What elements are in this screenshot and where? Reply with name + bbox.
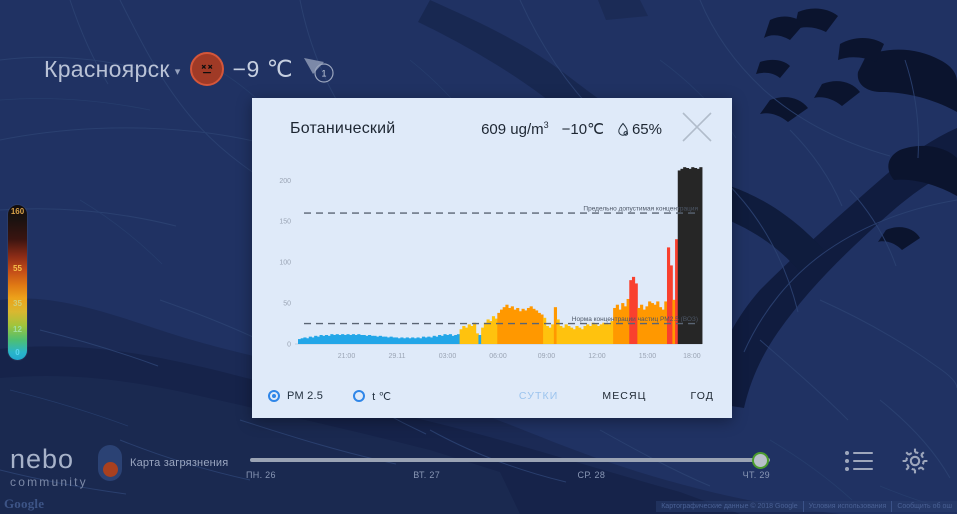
radio-indicator-temp xyxy=(353,390,365,402)
list-icon[interactable] xyxy=(844,449,874,478)
city-selector[interactable]: Красноярск ▾ xyxy=(44,56,181,83)
pollution-color-scale: 160 55 35 12 0 xyxy=(8,205,27,360)
city-name-label: Красноярск xyxy=(44,56,170,83)
metric-option-pm25[interactable]: PM 2.5 xyxy=(268,390,323,402)
layer-toggle-dot xyxy=(103,462,118,477)
svg-text:Норма концентрации частиц PM2.: Норма концентрации частиц PM2.5 (ВОЗ) xyxy=(572,316,698,323)
svg-text:1: 1 xyxy=(322,69,327,79)
pollution-chart[interactable]: 050100150200Предельно допустимая концент… xyxy=(262,160,708,368)
legend-label-35: 35 xyxy=(8,299,27,308)
timeline-label-0: ПН. 26 xyxy=(246,470,276,480)
svg-text:29.11: 29.11 xyxy=(388,353,405,360)
svg-text:21:00: 21:00 xyxy=(338,353,356,360)
svg-text:03:00: 03:00 xyxy=(439,353,457,360)
legend-label-0: 0 xyxy=(8,348,27,357)
station-temperature: −10℃ xyxy=(562,120,604,138)
timeline-slider[interactable]: ПН. 26 ВТ. 27 СР. 28 ЧТ. 29 xyxy=(250,449,770,491)
svg-text:15:00: 15:00 xyxy=(639,353,657,360)
wind-direction-icon: 1 xyxy=(302,52,342,86)
timeline-label-3: ЧТ. 29 xyxy=(743,470,770,480)
station-title: Ботанический xyxy=(290,120,481,138)
map-attribution: Картографические данные © 2018 Google Ус… xyxy=(656,501,957,512)
dead-face-icon[interactable] xyxy=(190,52,224,86)
pm-unit-exponent: 3 xyxy=(544,120,549,130)
station-stats: 609 ug/m3 −10℃ 65% xyxy=(481,120,662,138)
google-logo: Google xyxy=(4,496,44,512)
modal-header: Ботанический 609 ug/m3 −10℃ 65% xyxy=(252,98,732,160)
svg-text:12:00: 12:00 xyxy=(588,353,606,360)
metric-label-pm25: PM 2.5 xyxy=(287,390,323,402)
timeline-labels: ПН. 26 ВТ. 27 СР. 28 ЧТ. 29 xyxy=(250,470,770,480)
svg-text:06:00: 06:00 xyxy=(489,353,507,360)
range-month[interactable]: МЕСЯЦ xyxy=(602,390,646,402)
city-temperature: −9 ℃ xyxy=(233,56,293,83)
humidity-value: 65% xyxy=(632,121,662,138)
station-detail-modal: Ботанический 609 ug/m3 −10℃ 65% 05010015… xyxy=(252,98,732,418)
gear-glyph xyxy=(900,446,930,476)
dead-face-glyph xyxy=(197,59,217,79)
layer-label: Карта загрязнения xyxy=(130,457,228,469)
gear-icon[interactable] xyxy=(900,446,930,481)
droplet-icon xyxy=(617,122,630,137)
timeline-label-2: СР. 28 xyxy=(578,470,606,480)
timeline-track[interactable] xyxy=(250,458,770,462)
svg-text:150: 150 xyxy=(279,219,291,226)
attribution-copyright: Картографические данные © 2018 Google xyxy=(656,501,802,512)
svg-text:18:00: 18:00 xyxy=(683,353,701,360)
list-glyph xyxy=(844,449,874,473)
metric-option-temp[interactable]: t ℃ xyxy=(353,390,391,403)
svg-text:100: 100 xyxy=(279,260,291,267)
svg-text:Предельно допустимая концентра: Предельно допустимая концентрация xyxy=(583,206,698,213)
radio-indicator-pm25 xyxy=(268,390,280,402)
modal-footer: PM 2.5 t ℃ СУТКИ МЕСЯЦ ГОД xyxy=(252,374,732,418)
brand-name: nebo xyxy=(10,446,88,473)
brand-logo[interactable]: nebo community xyxy=(10,446,88,489)
timeline-handle[interactable] xyxy=(752,452,769,469)
pollution-chart-svg[interactable]: 050100150200Предельно допустимая концент… xyxy=(262,160,708,368)
map-tools xyxy=(844,446,930,481)
pm-unit: ug/m xyxy=(510,121,543,138)
svg-text:200: 200 xyxy=(279,178,291,185)
brand-subtitle: community xyxy=(10,475,88,489)
range-selector: СУТКИ МЕСЯЦ ГОД xyxy=(519,390,714,402)
svg-text:09:00: 09:00 xyxy=(538,353,556,360)
city-header: Красноярск ▾ −9 ℃ 1 xyxy=(44,52,342,86)
svg-text:50: 50 xyxy=(283,301,291,308)
svg-text:0: 0 xyxy=(287,342,291,349)
metric-selector: PM 2.5 t ℃ xyxy=(268,390,519,403)
chevron-down-icon: ▾ xyxy=(175,65,181,78)
close-glyph xyxy=(680,110,714,144)
layer-toggle[interactable] xyxy=(98,445,122,481)
close-icon[interactable] xyxy=(680,110,714,149)
range-day[interactable]: СУТКИ xyxy=(519,390,558,402)
pm-number: 609 xyxy=(481,121,506,138)
pm-value: 609 ug/m3 xyxy=(481,120,549,138)
range-year[interactable]: ГОД xyxy=(691,390,714,402)
attribution-report[interactable]: Сообщить об ош xyxy=(891,501,957,512)
wind-glyph: 1 xyxy=(302,52,342,86)
attribution-terms[interactable]: Условия использования xyxy=(803,501,892,512)
metric-label-temp: t ℃ xyxy=(372,390,391,403)
legend-label-160: 160 xyxy=(8,207,27,216)
timeline-label-1: ВТ. 27 xyxy=(413,470,440,480)
legend-label-12: 12 xyxy=(8,325,27,334)
station-humidity: 65% xyxy=(617,121,662,138)
legend-label-55: 55 xyxy=(8,264,27,273)
